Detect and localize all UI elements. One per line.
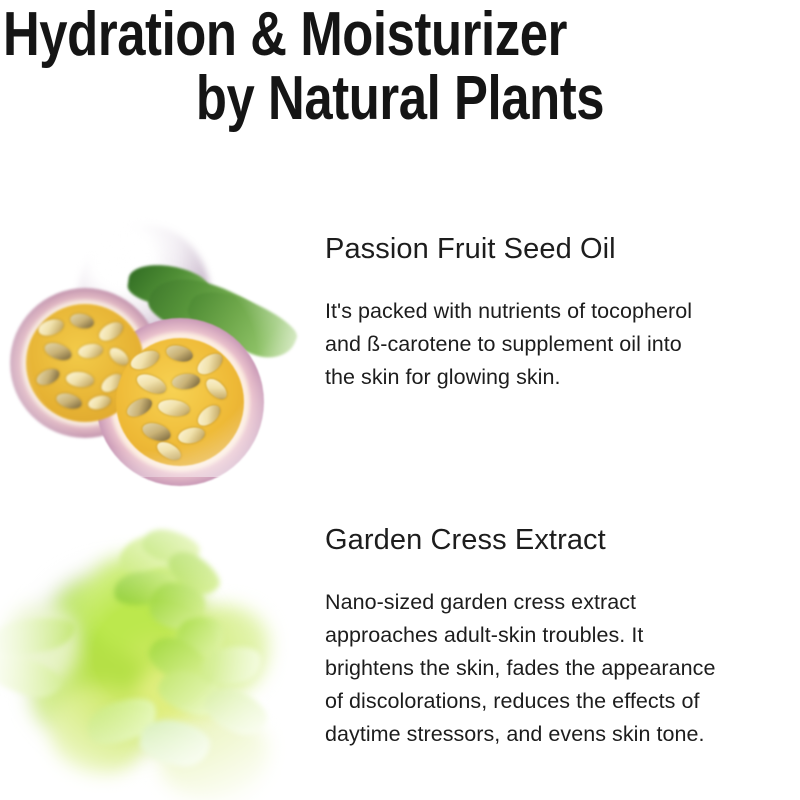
body-line: approaches adult-skin troubles. It [325, 619, 800, 652]
section-heading-passion-fruit: Passion Fruit Seed Oil [325, 232, 800, 266]
section-body-garden-cress: Nano-sized garden cress extract approach… [325, 586, 800, 751]
section-heading-garden-cress: Garden Cress Extract [325, 523, 800, 557]
body-line: daytime stressors, and evens skin tone. [325, 718, 800, 751]
body-line: brightens the skin, fades the appearance [325, 652, 800, 685]
cress-foreground-sprouts [0, 505, 320, 800]
section-body-passion-fruit: It's packed with nutrients of tocopherol… [325, 295, 800, 394]
body-line: It's packed with nutrients of tocopherol [325, 295, 800, 328]
garden-cress-photo [0, 505, 320, 800]
passion-fruit-photo [0, 222, 300, 477]
section-passion-fruit-seed-oil: Passion Fruit Seed Oil It's packed with … [325, 232, 800, 394]
body-line: Nano-sized garden cress extract [325, 586, 800, 619]
page-title-line-1: Hydration & Moisturizer [3, 2, 567, 68]
section-garden-cress-extract: Garden Cress Extract Nano-sized garden c… [325, 523, 800, 751]
body-line: and ß-carotene to supplement oil into [325, 328, 800, 361]
body-line: the skin for glowing skin. [325, 361, 800, 394]
page-title: Hydration & Moisturizer by Natural Plant… [0, 0, 800, 150]
body-line: of discolorations, reduces the effects o… [325, 685, 800, 718]
product-ingredient-infographic: Hydration & Moisturizer by Natural Plant… [0, 0, 800, 800]
page-title-line-2: by Natural Plants [196, 66, 604, 132]
passion-fruit-pulp-front [116, 338, 244, 466]
